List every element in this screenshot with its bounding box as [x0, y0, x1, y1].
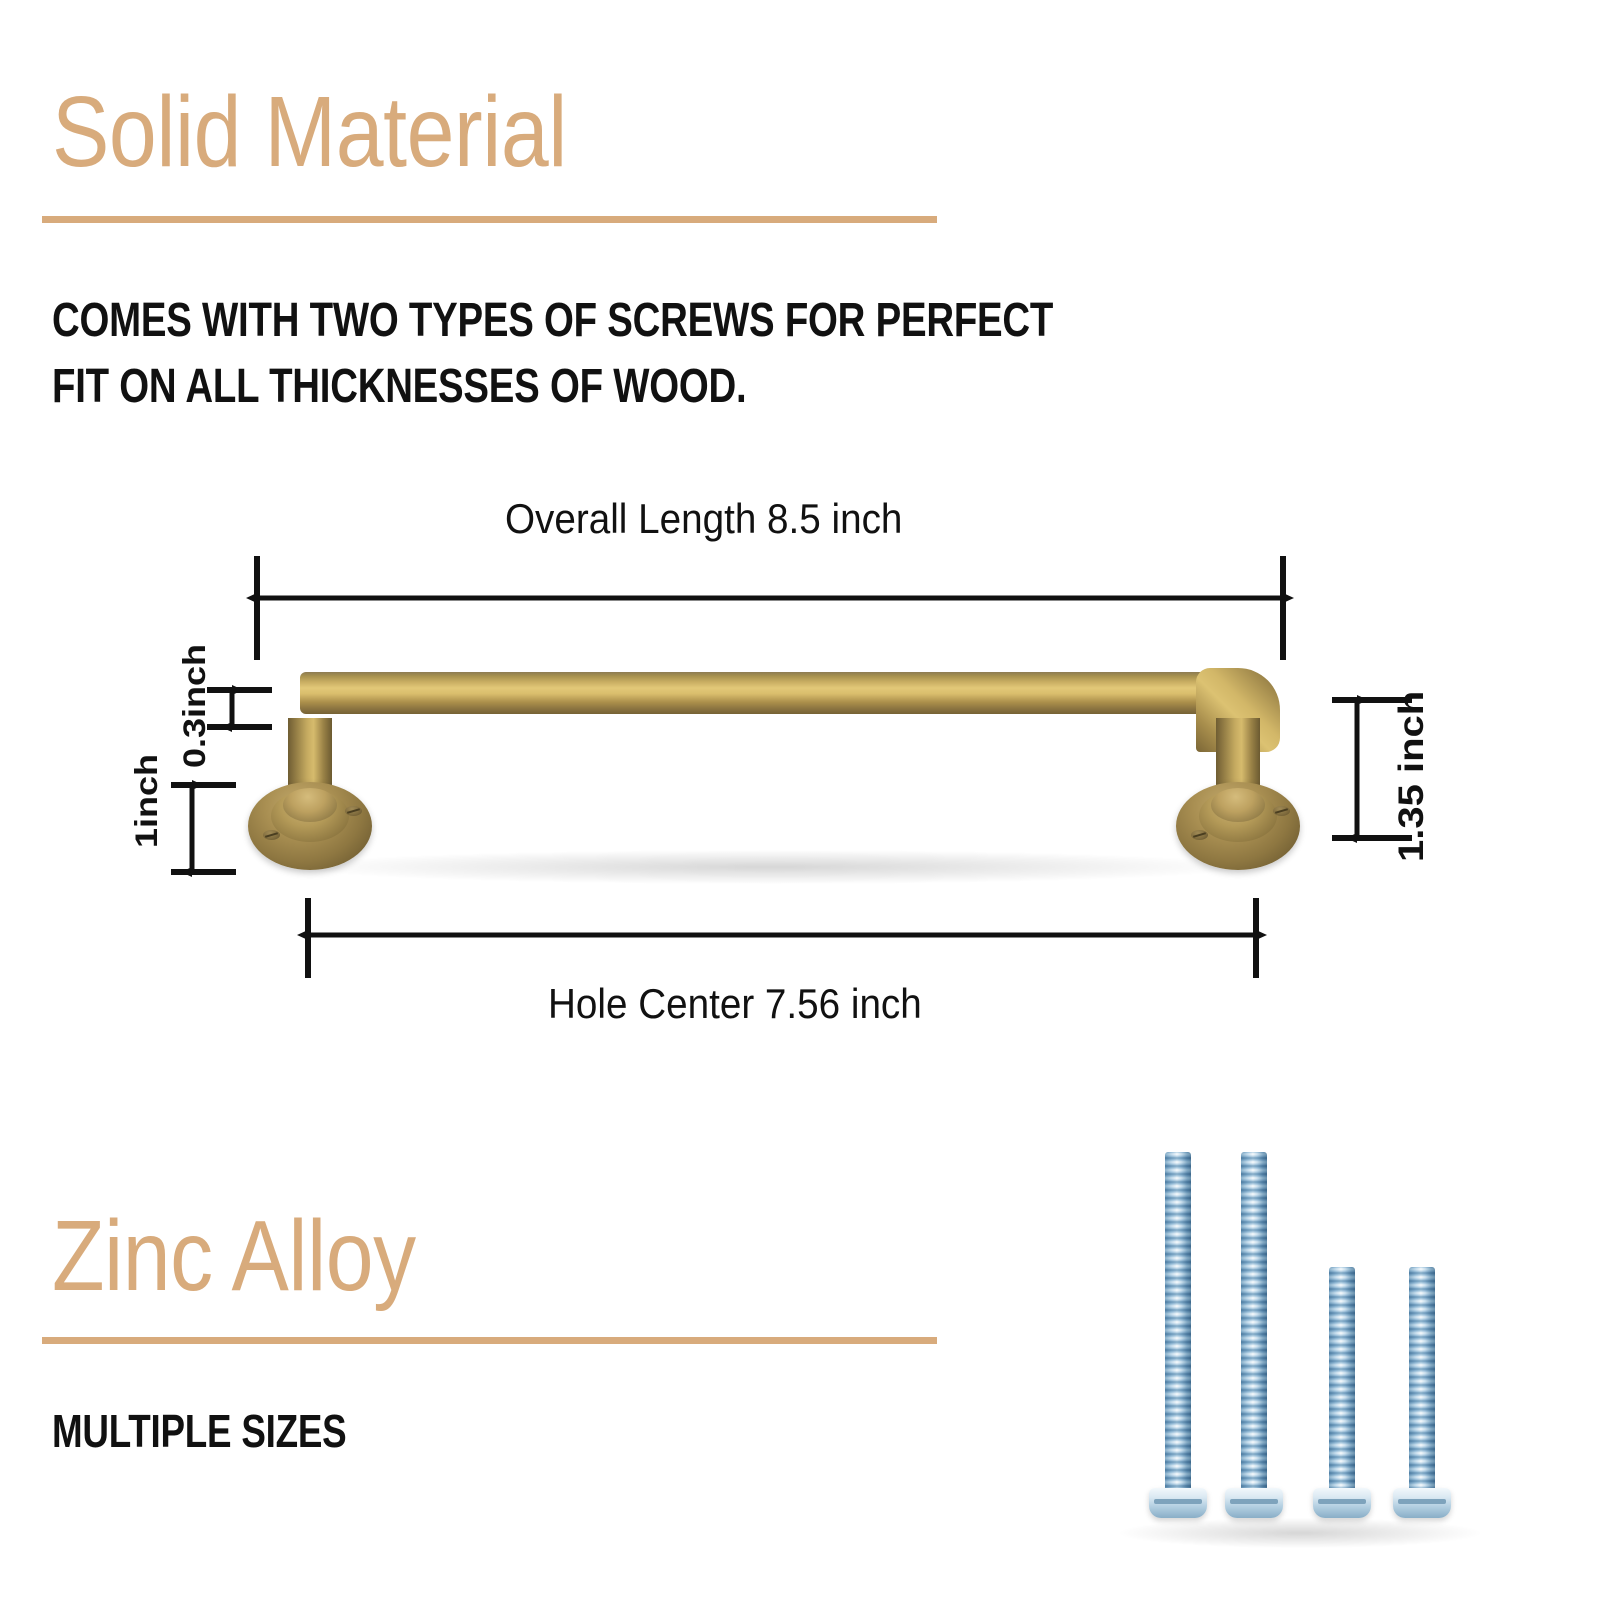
screws-drop-shadow	[1120, 1518, 1480, 1548]
screw-shank	[1165, 1152, 1191, 1492]
screw-shank	[1241, 1152, 1267, 1492]
screw-head	[1393, 1488, 1451, 1518]
screw-head	[1313, 1488, 1371, 1518]
screw-head	[1225, 1488, 1283, 1518]
short-machine-screw-2	[1409, 1267, 1435, 1522]
long-machine-screw-1	[1165, 1152, 1191, 1522]
screws-illustration	[0, 0, 1600, 1600]
screw-shank	[1409, 1267, 1435, 1492]
screw-head	[1149, 1488, 1207, 1518]
long-machine-screw-2	[1241, 1152, 1267, 1522]
short-machine-screw-1	[1329, 1267, 1355, 1522]
screw-shank	[1329, 1267, 1355, 1492]
